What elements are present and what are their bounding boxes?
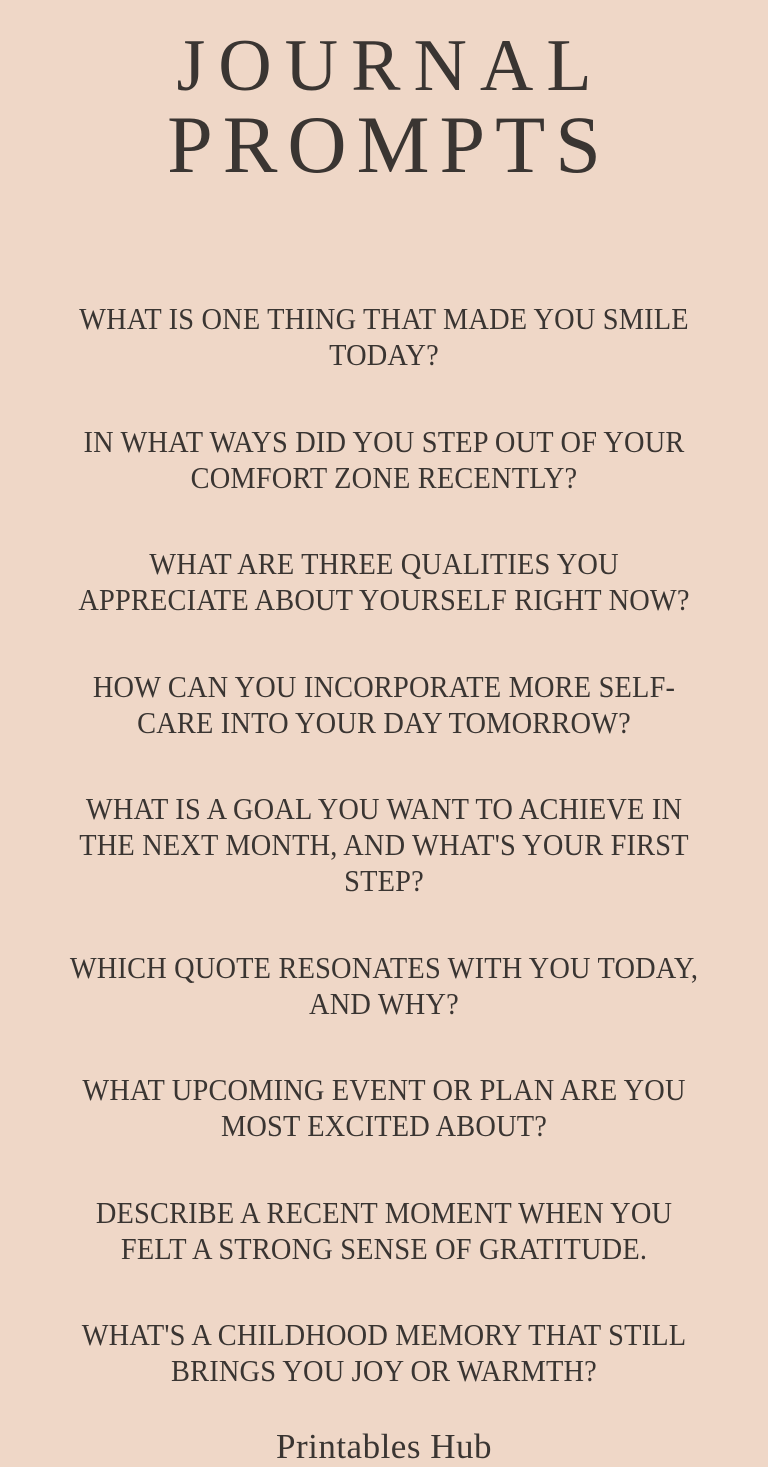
prompt-item: WHAT IS A GOAL YOU WANT TO ACHIEVE IN TH…	[64, 791, 704, 899]
prompt-item: WHAT ARE THREE QUALITIES YOU APPRECIATE …	[64, 546, 704, 618]
title-line-journal: JOURNAL	[0, 30, 768, 103]
prompt-item: HOW CAN YOU INCORPORATE MORE SELF-CARE I…	[64, 669, 704, 741]
prompt-item: WHICH QUOTE RESONATES WITH YOU TODAY, AN…	[64, 950, 704, 1022]
page-title: JOURNAL PROMPTS	[0, 30, 768, 185]
prompt-item: WHAT UPCOMING EVENT OR PLAN ARE YOU MOST…	[64, 1072, 704, 1144]
prompt-item: WHAT'S A CHILDHOOD MEMORY THAT STILL BRI…	[64, 1317, 704, 1389]
prompt-item: IN WHAT WAYS DID YOU STEP OUT OF YOUR CO…	[64, 424, 704, 496]
brand-footer: Printables Hub	[276, 1427, 492, 1467]
title-line-prompts: PROMPTS	[0, 105, 768, 185]
prompt-item: WHAT IS ONE THING THAT MADE YOU SMILE TO…	[64, 301, 704, 373]
prompt-list: WHAT IS ONE THING THAT MADE YOU SMILE TO…	[40, 271, 728, 1390]
prompt-item: DESCRIBE A RECENT MOMENT WHEN YOU FELT A…	[64, 1195, 704, 1267]
journal-prompts-poster: JOURNAL PROMPTS WHAT IS ONE THING THAT M…	[0, 0, 768, 1365]
